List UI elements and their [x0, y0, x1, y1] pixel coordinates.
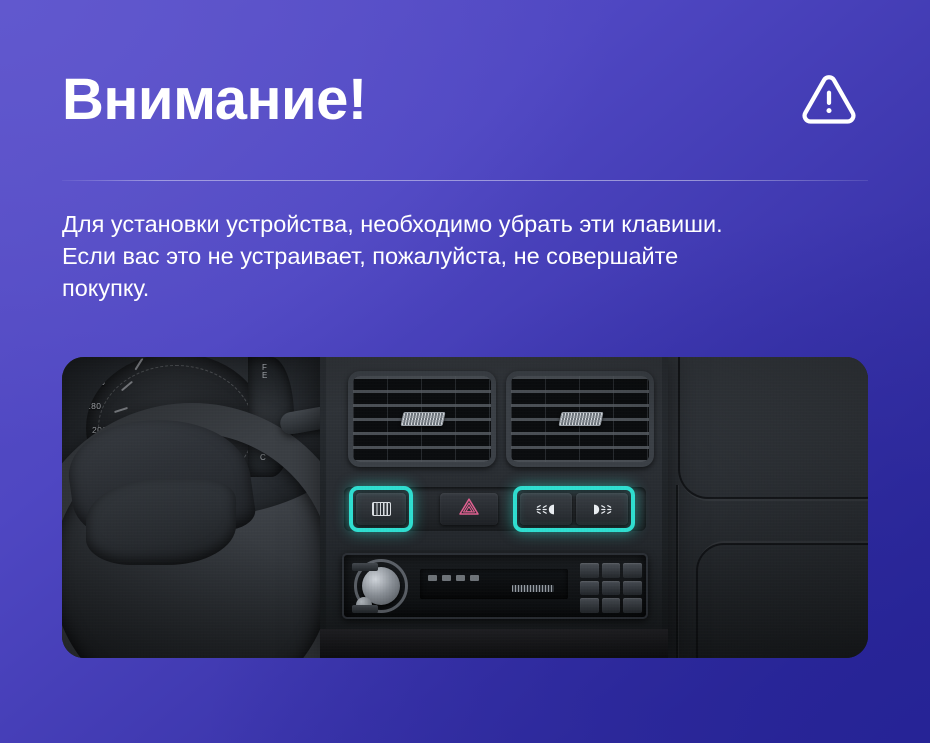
display-segment: [428, 575, 437, 581]
page-title: Внимание!: [62, 70, 367, 129]
steering-wheel-hub: [86, 479, 236, 565]
cd-slot[interactable]: [512, 585, 554, 592]
stereo-side-button[interactable]: [352, 605, 378, 613]
gauge-minor-tick: [134, 358, 143, 371]
console-bezel: [326, 357, 662, 658]
vent-adjuster-tab[interactable]: [559, 412, 604, 426]
airbag-panel-seam-upper: [678, 357, 868, 499]
vent-adjuster-tab[interactable]: [401, 412, 446, 426]
stereo-display-segments: [428, 575, 479, 581]
stereo-preset-button[interactable]: [602, 598, 621, 613]
rear-fog-light-icon: [591, 503, 613, 516]
front-fog-light-icon: [535, 503, 557, 516]
console-lower-shelf: [320, 629, 668, 658]
stereo-preset-button[interactable]: [580, 563, 599, 578]
body-line-1: Для установки устройства, необходимо убр…: [62, 208, 862, 240]
stereo-preset-button[interactable]: [623, 563, 642, 578]
body-line-2: Если вас это не устраивает, пожалуйста, …: [62, 240, 862, 272]
header-divider: [62, 180, 868, 181]
gauge-tick-160: 160: [90, 377, 105, 387]
airbag-panel-seam-lower: [696, 543, 868, 658]
stereo-button-grid[interactable]: [580, 563, 642, 613]
rear-fog-light-button[interactable]: [576, 493, 628, 525]
warning-slide: Внимание! Для установки устройства, необ…: [0, 0, 930, 743]
display-segment: [456, 575, 465, 581]
dashboard-switch-strip: [344, 487, 646, 531]
defogger-icon: [372, 502, 391, 516]
stereo-preset-button[interactable]: [602, 563, 621, 578]
hazard-lights-button[interactable]: [440, 493, 498, 525]
display-segment: [442, 575, 451, 581]
dashboard-vertical-seam: [676, 485, 678, 658]
body-line-3: покупку.: [62, 272, 862, 304]
center-vent-left: [348, 371, 496, 467]
warning-triangle-icon: [798, 69, 860, 131]
gauge-tick-180: 180: [86, 401, 101, 411]
stereo-preset-button[interactable]: [580, 581, 599, 596]
car-dashboard-photo: km/h 140 160 180 200 F E C: [62, 357, 868, 658]
stereo-side-button[interactable]: [352, 563, 378, 571]
stereo-display: [420, 569, 568, 599]
display-segment: [470, 575, 479, 581]
stereo-preset-button[interactable]: [602, 581, 621, 596]
stereo-preset-button[interactable]: [623, 598, 642, 613]
rear-defogger-button[interactable]: [356, 493, 406, 525]
car-stereo-head-unit[interactable]: [342, 553, 648, 619]
slide-header: Внимание!: [62, 52, 868, 148]
gauge-tick-140: 140: [100, 357, 115, 365]
passenger-dashboard-panel: [660, 357, 868, 658]
front-fog-light-button[interactable]: [520, 493, 572, 525]
stereo-preset-button[interactable]: [623, 581, 642, 596]
center-vent-right: [506, 371, 654, 467]
center-console: [320, 357, 668, 658]
gauge-label-e: E: [262, 371, 267, 380]
warning-body-text: Для установки устройства, необходимо убр…: [62, 208, 862, 304]
stereo-preset-button[interactable]: [580, 598, 599, 613]
hazard-triangle-icon: [458, 497, 480, 521]
